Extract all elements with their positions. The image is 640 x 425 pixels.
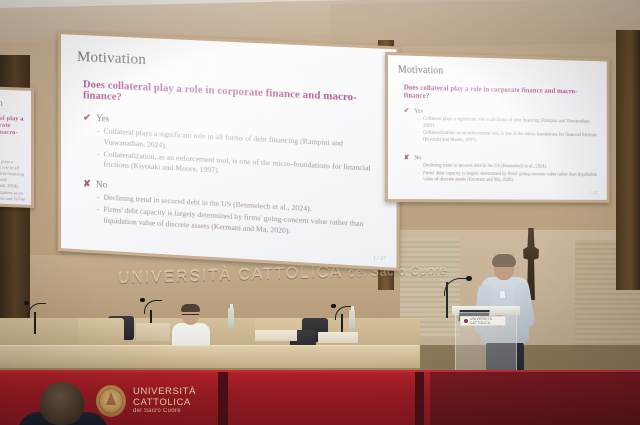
slide-block-no: ✘ No -Declining trend in secured debt in… <box>83 178 380 241</box>
slide-question: Does collateral play a role in corporate… <box>83 79 380 116</box>
glasses-icon <box>182 314 199 317</box>
dash-icon: - <box>418 163 420 170</box>
bullet-text: Declining trend in secured debt in the U… <box>423 163 547 171</box>
cross-icon: ✘ <box>83 178 91 189</box>
panelist-laptop <box>136 323 170 341</box>
university-crest-icon <box>96 385 126 417</box>
block-label-no: No <box>414 155 421 161</box>
right-screen-surface: Motivation Does collateral play a role i… <box>388 55 607 200</box>
desk-microphone-head <box>140 298 145 302</box>
bullet-text: Collateralization, as an enforcement too… <box>423 131 597 147</box>
slide-question: Does collateral play a role in corporate… <box>0 113 25 143</box>
slide-block-yes: ✔ Yes -Collateral plays a significant ro… <box>83 112 380 185</box>
slide-block-no: ✘ No -Declining trend in secured debt in… <box>404 153 598 185</box>
right-projection-screen: Motivation Does collateral play a role i… <box>385 52 610 203</box>
left-slide: Motivation Does collateral play a role i… <box>0 88 31 205</box>
slide-question: Does collateral play a role in corporate… <box>404 83 598 103</box>
block-heading-no: ✘ No <box>404 153 598 163</box>
check-icon: ✔ <box>83 112 91 123</box>
check-icon: ✔ <box>404 106 409 114</box>
list-item: -Collateralization, as an enforcement to… <box>418 131 598 147</box>
desk-nameplate <box>318 332 358 343</box>
university-branding: UNIVERSITÀ CATTOLICA del Sacro Cuore <box>96 378 220 424</box>
bullet-text: Collateral plays a significant role in a… <box>0 158 25 189</box>
slide-page-number: 1 / 27 <box>13 195 21 199</box>
ceiling-soffit-right <box>330 0 640 48</box>
list-item: -Collateral plays a significant role in … <box>0 158 25 190</box>
block-label-no: No <box>96 179 107 190</box>
left-screen-surface: Motivation Does collateral play a role i… <box>0 88 31 205</box>
desk-microphone-head <box>331 304 336 308</box>
list-item: -Firms' debt capacity is largely determi… <box>418 171 598 186</box>
water-bottle <box>228 308 234 330</box>
block-label-yes: Yes <box>96 113 109 124</box>
bullet-list-yes: -Collateral plays a significant role in … <box>418 117 598 147</box>
desk-microphone-head <box>24 301 29 305</box>
right-slide: Motivation Does collateral play a role i… <box>388 55 607 200</box>
center-screen-surface: Motivation Does collateral play a role i… <box>61 34 396 268</box>
block-heading-yes: ✔ Yes <box>0 148 25 157</box>
podium-microphone-head <box>466 276 472 281</box>
slide-page-number: 1 / 27 <box>590 191 598 195</box>
bullet-text: Collateral plays a significant role in a… <box>423 117 597 133</box>
nameplate-logo-icon <box>464 319 468 323</box>
presenter-badge <box>499 290 506 299</box>
dash-icon: - <box>418 117 420 130</box>
slide-title: Motivation <box>0 96 25 108</box>
slide-page-number: 1 / 27 <box>373 255 386 262</box>
slide-title: Motivation <box>77 49 380 80</box>
block-label-yes: Yes <box>414 109 423 115</box>
dash-icon: - <box>97 192 100 203</box>
front-desk-seam <box>415 372 424 425</box>
dash-icon: - <box>418 171 420 184</box>
water-bottle <box>349 310 355 332</box>
slide-block-yes: ✔ Yes -Collateral plays a significant ro… <box>404 106 598 146</box>
center-projection-screen: Motivation Does collateral play a role i… <box>58 31 400 271</box>
slide-title: Motivation <box>398 64 598 80</box>
lecture-hall-photo: UNIVERSITÀ CATTOLICA del Sacro Cuore Mot… <box>0 0 640 425</box>
chair <box>78 318 124 344</box>
bullet-text: Firms' debt capacity is largely determin… <box>423 171 597 185</box>
audience-member-head <box>40 382 84 425</box>
dash-icon: - <box>97 204 100 226</box>
lectern-nameplate-text: UNIVERSITÀ CATTOLICA <box>470 317 505 325</box>
left-projection-screen: Motivation Does collateral play a role i… <box>0 85 34 208</box>
desk-nameplate <box>255 330 297 341</box>
cross-icon: ✘ <box>404 153 409 161</box>
dash-icon: - <box>97 126 100 148</box>
lectern-nameplate: UNIVERSITÀ CATTOLICA <box>460 316 506 326</box>
brand-line-3: del Sacro Cuore <box>133 408 196 415</box>
center-slide: Motivation Does collateral play a role i… <box>61 34 396 268</box>
university-brand-text: UNIVERSITÀ CATTOLICA del Sacro Cuore <box>133 387 196 415</box>
wall-pillar-right <box>616 30 640 290</box>
dash-icon: - <box>418 131 420 144</box>
presenter-hair <box>492 254 516 267</box>
brand-line-2: CATTOLICA <box>133 398 196 409</box>
dash-icon: - <box>97 149 100 171</box>
bullet-list-no: -Declining trend in secured debt in the … <box>418 163 598 185</box>
front-desk-panel-right <box>430 372 640 425</box>
panelist-hair <box>181 304 200 312</box>
